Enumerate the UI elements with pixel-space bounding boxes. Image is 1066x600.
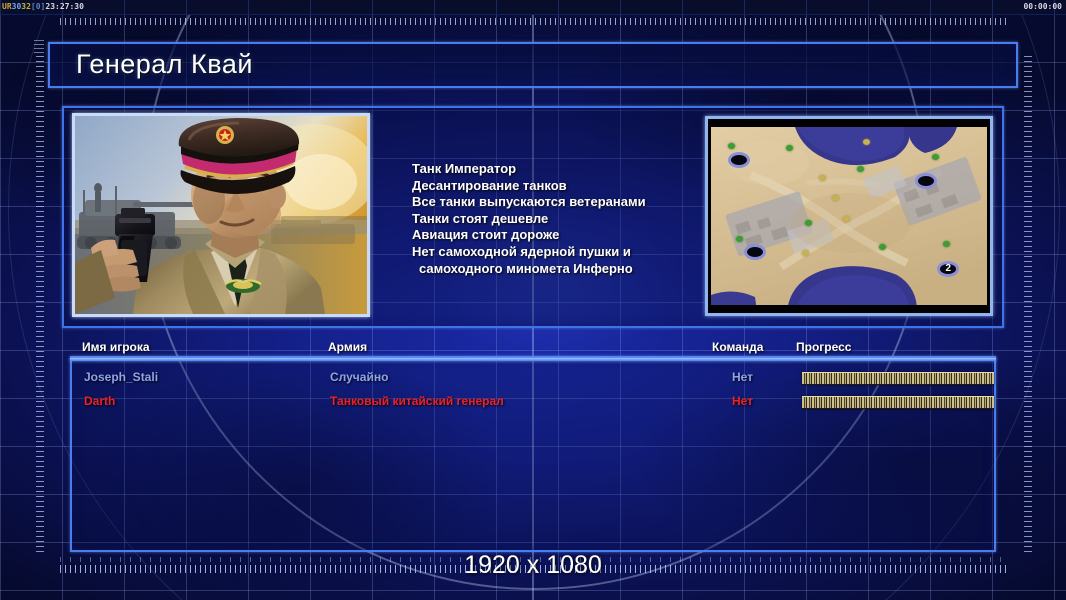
- status-bar: UR3032[0]23:27:30 00:00:00: [0, 0, 1066, 15]
- system-clock: 23:27:30: [45, 2, 84, 11]
- match-timer: 00:00:00: [1023, 1, 1062, 12]
- ability-line: Авиация стоит дороже: [412, 227, 712, 244]
- column-header-player: Имя игрока: [82, 340, 150, 354]
- minimap-resource-marker: [819, 175, 826, 181]
- minimap-resource-marker: [728, 143, 735, 149]
- minimap-frame[interactable]: 2: [705, 116, 993, 316]
- minimap-start-position[interactable]: 2: [937, 261, 959, 277]
- network-value-1: 30: [12, 2, 22, 11]
- column-header-army: Армия: [328, 340, 367, 354]
- network-bracket: [0]: [31, 2, 45, 11]
- general-title-panel: Генерал Квай: [48, 42, 1018, 88]
- player-army[interactable]: Танковый китайский генерал: [330, 394, 504, 408]
- table-row[interactable]: Joseph_Stali Случайно Нет: [72, 366, 998, 390]
- general-abilities-list: Танк Император Десантирование танков Все…: [412, 161, 712, 277]
- ability-line: самоходного миномета Инферно: [412, 261, 712, 278]
- page-title: Генерал Квай: [76, 49, 253, 80]
- ability-line: Нет самоходной ядерной пушки и: [412, 244, 712, 261]
- minimap-resource-marker: [805, 220, 812, 226]
- column-header-team: Команда: [712, 340, 763, 354]
- player-army[interactable]: Случайно: [330, 370, 388, 384]
- roster-column-headers: Имя игрока Армия Команда Прогресс: [70, 340, 996, 358]
- player-name[interactable]: Joseph_Stali: [84, 370, 158, 384]
- minimap-resource-marker: [736, 236, 743, 242]
- roster-header-rule: [70, 358, 996, 361]
- minimap-resource-marker: [802, 250, 809, 256]
- ability-line: Десантирование танков: [412, 178, 712, 195]
- general-portrait-frame: [72, 113, 370, 317]
- table-row[interactable]: Darth Танковый китайский генерал Нет: [72, 390, 998, 414]
- player-roster-panel: Joseph_Stali Случайно Нет Darth Танковый…: [70, 356, 996, 552]
- player-team[interactable]: Нет: [732, 370, 753, 384]
- minimap-resource-marker: [943, 241, 950, 247]
- player-progress-bar: [802, 372, 994, 385]
- minimap-start-position[interactable]: [728, 152, 750, 168]
- ability-line: Танк Император: [412, 161, 712, 178]
- network-value-2: 32: [21, 2, 31, 11]
- game-lobby-screen: UR3032[0]23:27:30 00:00:00 Генерал Квай: [0, 0, 1066, 600]
- player-name[interactable]: Darth: [84, 394, 115, 408]
- general-kwai-portrait-illustration: [75, 116, 367, 314]
- ability-line: Все танки выпускаются ветеранами: [412, 194, 712, 211]
- network-status-text: UR3032[0]23:27:30: [2, 1, 84, 12]
- minimap-resource-marker: [932, 154, 939, 160]
- ability-line: Танки стоят дешевле: [412, 211, 712, 228]
- network-label: UR: [2, 2, 12, 11]
- general-portrait: [75, 116, 367, 314]
- resolution-label: 1920 x 1080: [0, 551, 1066, 580]
- column-header-progress: Прогресс: [796, 340, 851, 354]
- status-bar-grid: [0, 0, 1066, 14]
- minimap-resource-marker: [786, 145, 793, 151]
- player-team[interactable]: Нет: [732, 394, 753, 408]
- minimap[interactable]: 2: [711, 127, 987, 305]
- player-progress-bar: [802, 396, 994, 409]
